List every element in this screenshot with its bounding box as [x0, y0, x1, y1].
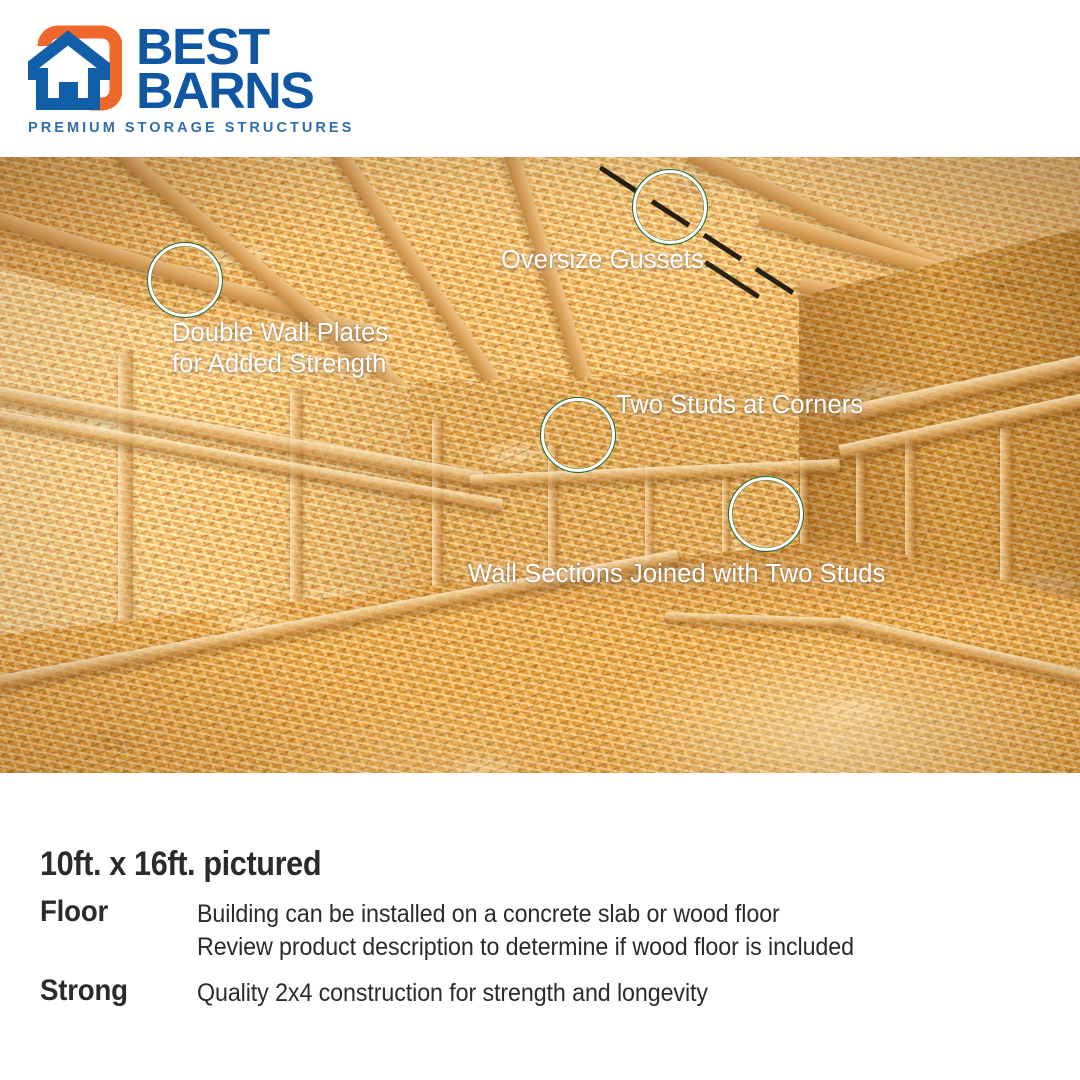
logo-word-barns: BARNS	[136, 69, 313, 113]
callout-circle-double-wall-plates	[148, 243, 222, 317]
callout-label-wall-sections-joined: Wall Sections Joined with Two Studs	[468, 559, 885, 590]
spec-desc-strong: Quality 2x4 construction for strength an…	[197, 977, 708, 1010]
header: BEST BARNS PREMIUM STORAGE STRUCTURES	[0, 0, 1080, 157]
logo-wordmark: BEST BARNS	[136, 24, 310, 113]
spec-label-floor: Floor	[40, 895, 108, 929]
callout-circle-two-studs-at-corners	[541, 398, 615, 472]
photo-scene: Double Wall Plates for Added Strength Ov…	[0, 157, 1080, 773]
brand-logo[interactable]: BEST BARNS PREMIUM STORAGE STRUCTURES	[28, 24, 354, 136]
specs-section: 10ft. x 16ft. pictured Floor Building ca…	[0, 773, 1080, 1080]
spec-label-strong: Strong	[40, 974, 128, 1008]
shed-interior-photo: Double Wall Plates for Added Strength Ov…	[0, 157, 1080, 773]
callout-circle-oversize-gussets	[633, 170, 707, 244]
spec-desc-floor: Building can be installed on a concrete …	[197, 898, 854, 963]
callout-label-two-studs-at-corners: Two Studs at Corners	[616, 390, 863, 421]
callout-label-double-wall-plates: Double Wall Plates for Added Strength	[172, 318, 388, 379]
logo-tagline: PREMIUM STORAGE STRUCTURES	[28, 120, 354, 136]
barn-house-icon	[28, 24, 122, 112]
callout-circle-wall-sections-joined	[729, 477, 803, 551]
spec-title: 10ft. x 16ft. pictured	[40, 845, 321, 884]
logo-main: BEST BARNS	[28, 24, 354, 113]
callout-label-oversize-gussets: Oversize Gussets	[501, 245, 704, 276]
